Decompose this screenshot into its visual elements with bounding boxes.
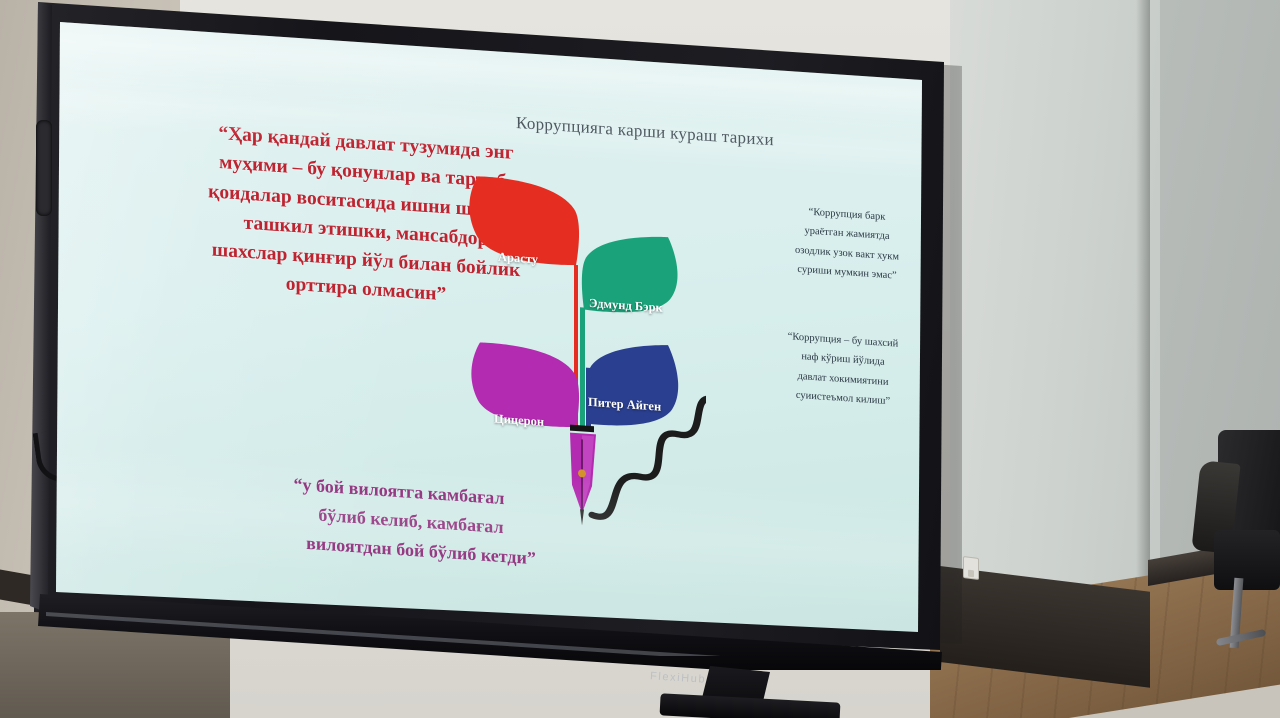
office-chair-seat xyxy=(1214,530,1280,590)
fountain-pen-leaves-diagram: Арасту Эдмунд Бэрк Питер Айген Цицерон xyxy=(456,161,706,598)
display-stand-base xyxy=(660,693,841,718)
wall-corner-shadow xyxy=(1136,0,1150,610)
slide-title: Коррупцияга карши кураш тарихи xyxy=(480,111,810,153)
interactive-display[interactable]: Коррупцияга карши кураш тарихи “Ҳар қанд… xyxy=(0,0,1000,718)
leaf-shape-eigen xyxy=(586,340,678,430)
eigen-side-quote: “Коррупция – бу шахсий наф кўриш йўлида … xyxy=(768,326,918,414)
leaf-label-arastu: Арасту xyxy=(498,250,538,268)
burke-side-quote: “Коррупция барк ураётган жамиятда озодли… xyxy=(772,200,922,288)
presentation-slide: Коррупцияга карши кураш тарихи “Ҳар қанд… xyxy=(56,16,922,654)
display-brand-logo: FlexiHub xyxy=(650,670,707,686)
display-side-handle[interactable] xyxy=(36,120,52,216)
